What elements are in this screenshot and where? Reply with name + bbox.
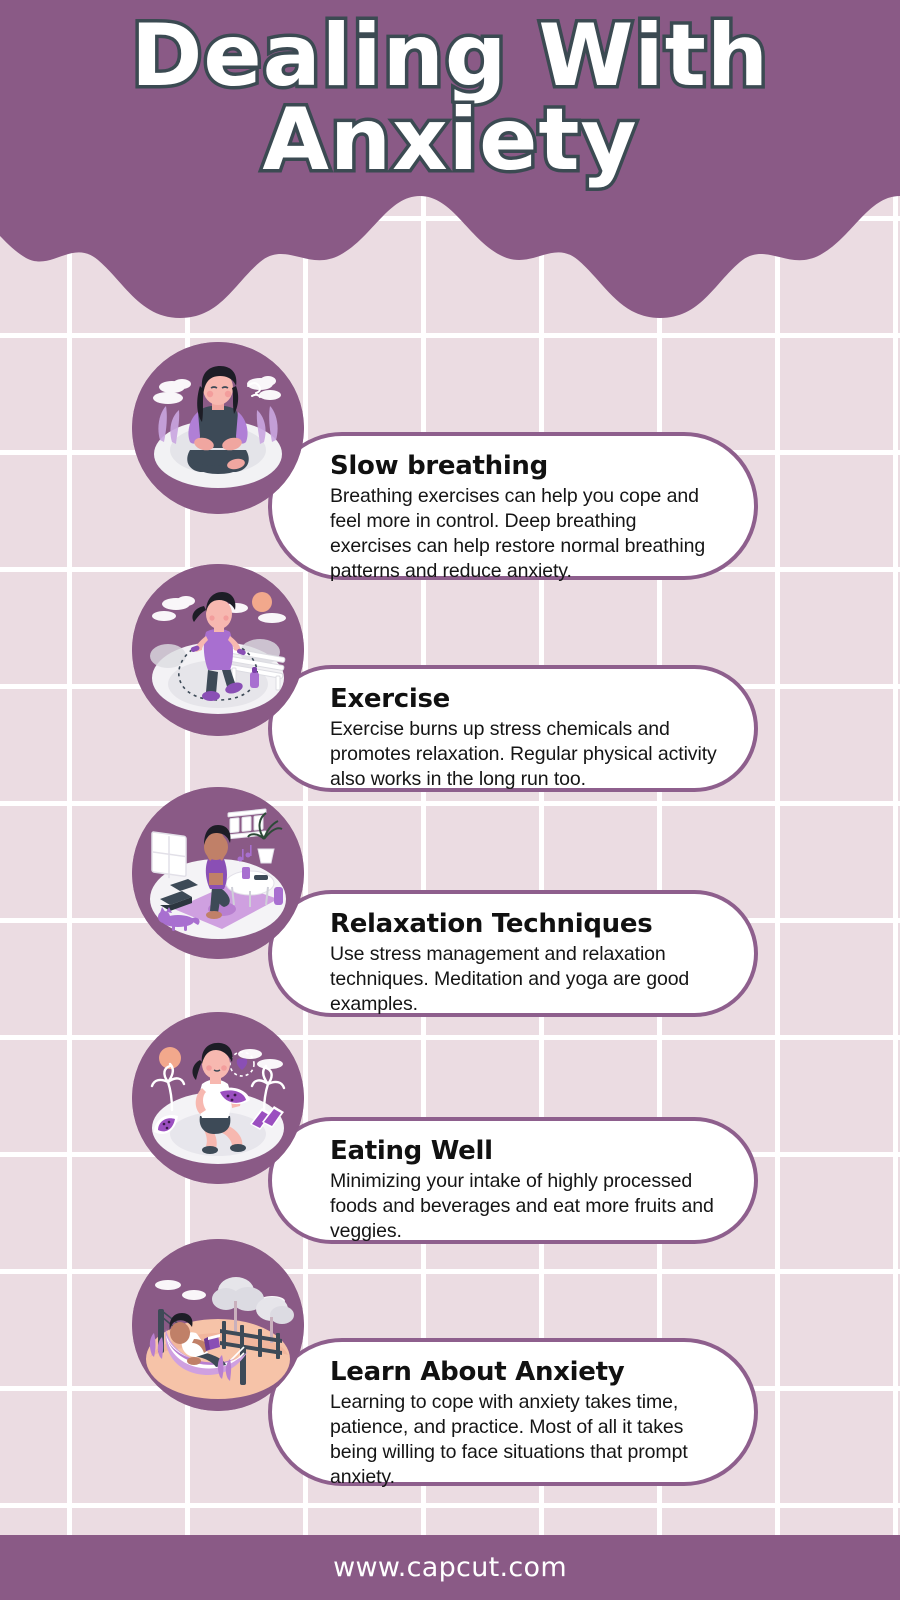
tip-card[interactable]: Eating Well Minimizing your intake of hi…	[268, 1117, 758, 1244]
tips-list: Slow breathing Breathing exercises can h…	[0, 0, 900, 1600]
tip-title: Eating Well	[330, 1137, 720, 1167]
tip-body: Breathing exercises can help you cope an…	[330, 484, 720, 584]
yoga-tree-pose-illustration	[132, 787, 304, 959]
jump-rope-woman-illustration	[132, 564, 304, 736]
tip-title: Slow breathing	[330, 452, 720, 482]
tip-title: Exercise	[330, 685, 720, 715]
footer-bar: www.capcut.com	[0, 1535, 900, 1600]
tip-title: Relaxation Techniques	[330, 910, 720, 940]
tip-title: Learn About Anxiety	[330, 1358, 720, 1388]
tip-card[interactable]: Slow breathing Breathing exercises can h…	[268, 432, 758, 580]
woman-eating-watermelon-illustration	[132, 1012, 304, 1184]
footer-url[interactable]: www.capcut.com	[333, 1552, 567, 1583]
tip-body: Minimizing your intake of highly process…	[330, 1169, 720, 1244]
meditating-woman-illustration	[132, 342, 304, 514]
tip-card[interactable]: Learn About Anxiety Learning to cope wit…	[268, 1338, 758, 1486]
tip-body: Exercise burns up stress chemicals and p…	[330, 717, 720, 792]
tip-body: Learning to cope with anxiety takes time…	[330, 1390, 720, 1490]
tip-body: Use stress management and relaxation tec…	[330, 942, 720, 1017]
tip-card[interactable]: Exercise Exercise burns up stress chemic…	[268, 665, 758, 792]
tip-card[interactable]: Relaxation Techniques Use stress managem…	[268, 890, 758, 1017]
woman-reading-hammock-illustration	[132, 1239, 304, 1411]
